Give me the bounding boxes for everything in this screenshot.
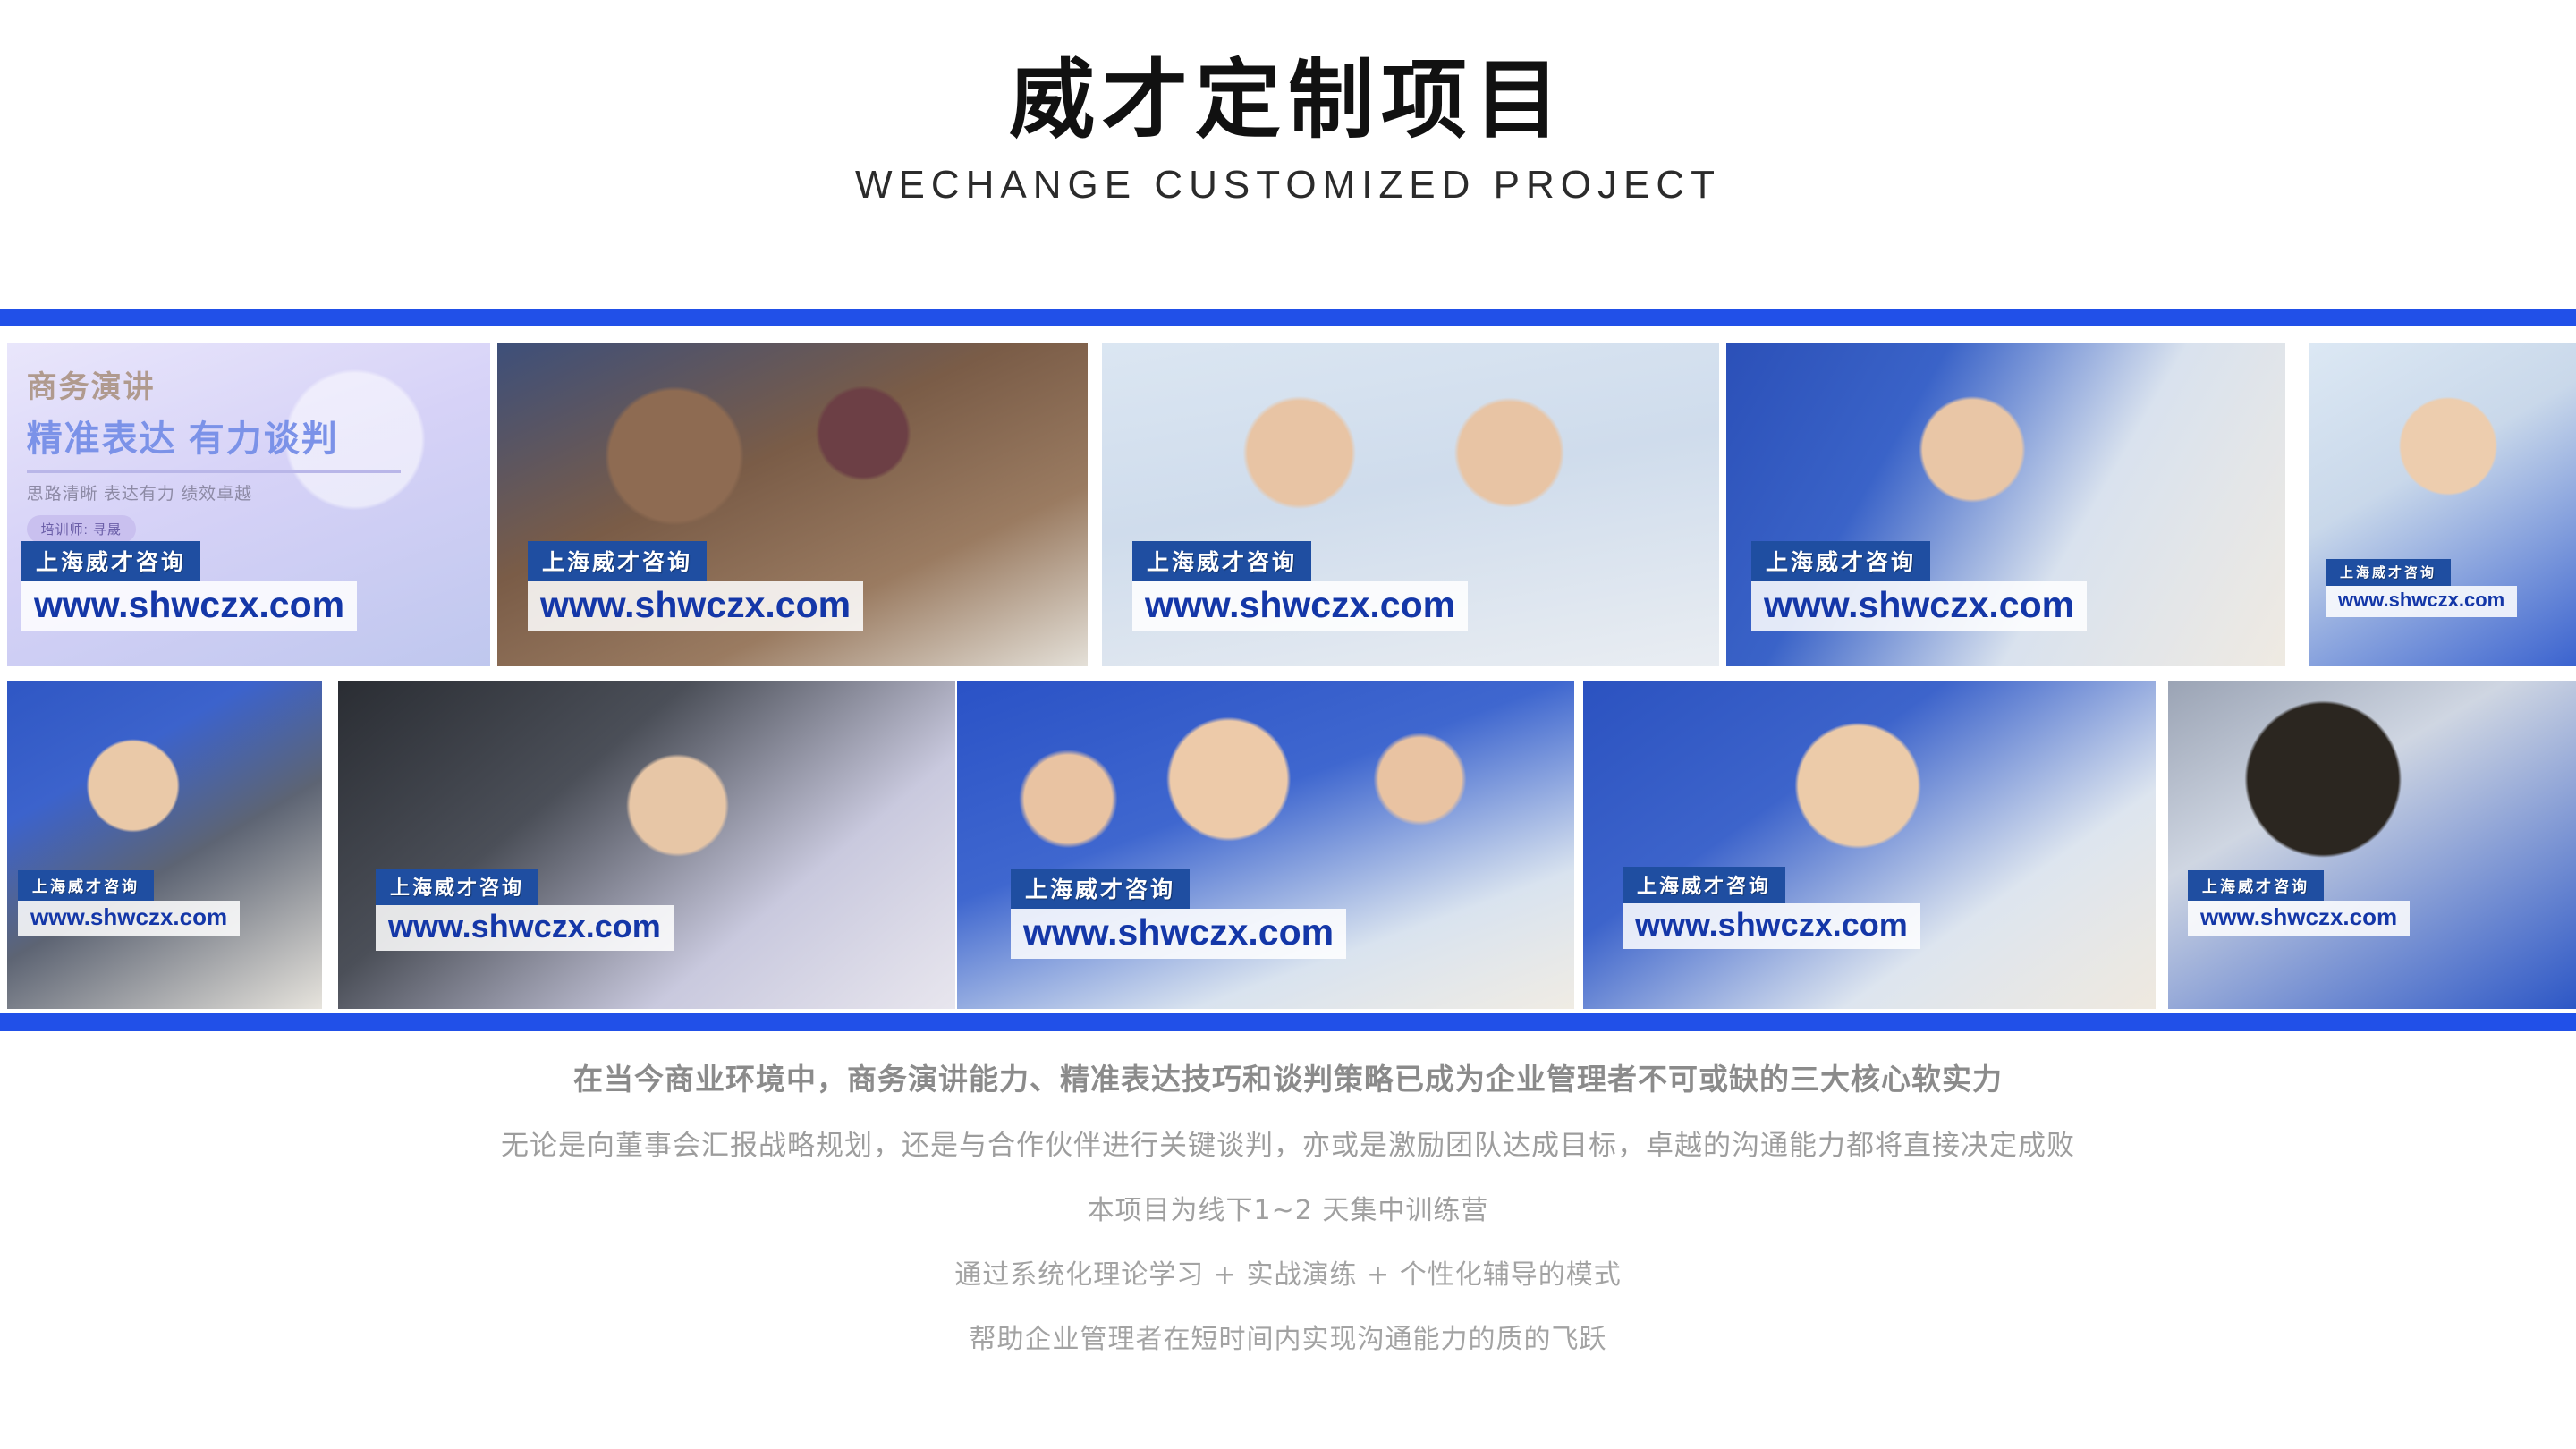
page-title: 威才定制项目 [1009,55,1567,146]
description-line-1: 在当今商业环境中，商务演讲能力、精准表达技巧和谈判策略已成为企业管理者不可或缺的… [573,1055,2003,1098]
watermark-url: www.shwczx.com [18,901,240,936]
slide-line-2: 精准表达 有力谈判 [27,410,462,462]
gallery-tile-r1c3[interactable]: 上海威才咨询 www.shwczx.com [1102,343,1719,666]
watermark-brand: 上海威才咨询 [2188,870,2324,901]
watermark-r1c3: 上海威才咨询 www.shwczx.com [1132,541,1468,631]
gallery-tile-r2c3[interactable]: 上海威才咨询 www.shwczx.com [957,681,1574,1009]
photo-r1c5 [2309,343,2576,666]
photo-r2c1 [7,681,322,1009]
watermark-r2c1: 上海威才咨询 www.shwczx.com [18,870,240,936]
slide-line-3: 思路清晰 表达有力 绩效卓越 [27,480,462,504]
watermark-url: www.shwczx.com [376,905,674,951]
watermark-r2c5: 上海威才咨询 www.shwczx.com [2188,870,2410,936]
watermark-r1c4: 上海威才咨询 www.shwczx.com [1751,541,2087,631]
watermark-r1c2: 上海威才咨询 www.shwczx.com [528,541,863,631]
gallery-tile-r1c5[interactable]: 上海威才咨询 www.shwczx.com [2309,343,2576,666]
gallery-tile-r2c1[interactable]: 上海威才咨询 www.shwczx.com [7,681,322,1009]
divider-bottom [0,1013,2576,1031]
watermark-url: www.shwczx.com [2188,901,2410,936]
poster-header: 威才定制项目 WECHANGE CUSTOMIZED PROJECT [0,0,2576,295]
photo-r2c3 [957,681,1574,1009]
photo-gallery: 商务演讲 精准表达 有力谈判 思路清晰 表达有力 绩效卓越 培训师: 寻晟 上海… [0,343,2576,1009]
watermark-brand: 上海威才咨询 [1623,867,1785,903]
photo-r2c4 [1583,681,2156,1009]
description-line-3: 本项目为线下1~2 天集中训练营 [1088,1188,1489,1227]
watermark-url: www.shwczx.com [528,581,863,631]
watermark-brand: 上海威才咨询 [376,869,538,905]
watermark-brand: 上海威才咨询 [1751,541,1930,581]
slide-trainer-chip: 培训师: 寻晟 [27,515,136,543]
poster-canvas: 威才定制项目 WECHANGE CUSTOMIZED PROJECT 商务演讲 … [0,0,2576,1449]
description-line-4: 通过系统化理论学习 + 实战演练 + 个性化辅导的模式 [954,1252,1621,1292]
gallery-tile-r2c5[interactable]: 上海威才咨询 www.shwczx.com [2168,681,2576,1009]
watermark-brand: 上海威才咨询 [1132,541,1311,581]
photo-r2c2 [338,681,955,1009]
watermark-url: www.shwczx.com [2326,586,2517,617]
description-block: 在当今商业环境中，商务演讲能力、精准表达技巧和谈判策略已成为企业管理者不可或缺的… [0,1055,2576,1356]
divider-top [0,309,2576,326]
watermark-brand: 上海威才咨询 [18,870,154,901]
page-subtitle: WECHANGE CUSTOMIZED PROJECT [855,164,1721,207]
gallery-tile-r1c4[interactable]: 上海威才咨询 www.shwczx.com [1726,343,2285,666]
description-line-2: 无论是向董事会汇报战略规划，还是与合作伙伴进行关键谈判，亦或是激励团队达成目标，… [501,1123,2075,1163]
slide-divider [27,470,401,473]
watermark-brand: 上海威才咨询 [528,541,707,581]
watermark-brand: 上海威才咨询 [1011,869,1190,909]
photo-r2c5 [2168,681,2576,1009]
watermark-r2c2: 上海威才咨询 www.shwczx.com [376,869,674,951]
watermark-url: www.shwczx.com [1623,903,1920,949]
watermark-r1c1: 上海威才咨询 www.shwczx.com [21,541,357,631]
watermark-url: www.shwczx.com [1011,909,1346,959]
gallery-tile-r1c1[interactable]: 商务演讲 精准表达 有力谈判 思路清晰 表达有力 绩效卓越 培训师: 寻晟 上海… [7,343,490,666]
watermark-url: www.shwczx.com [1132,581,1468,631]
watermark-r2c4: 上海威才咨询 www.shwczx.com [1623,867,1920,949]
watermark-r2c3: 上海威才咨询 www.shwczx.com [1011,869,1346,959]
watermark-url: www.shwczx.com [1751,581,2087,631]
gallery-tile-r2c4[interactable]: 上海威才咨询 www.shwczx.com [1583,681,2156,1009]
slide-line-1: 商务演讲 [27,362,462,406]
watermark-url: www.shwczx.com [21,581,357,631]
watermark-r1c5: 上海威才咨询 www.shwczx.com [2326,559,2517,617]
description-line-5: 帮助企业管理者在短时间内实现沟通能力的质的飞跃 [970,1317,1607,1356]
gallery-tile-r1c2[interactable]: 上海威才咨询 www.shwczx.com [497,343,1088,666]
gallery-tile-r2c2[interactable]: 上海威才咨询 www.shwczx.com [338,681,955,1009]
watermark-brand: 上海威才咨询 [21,541,200,581]
watermark-brand: 上海威才咨询 [2326,559,2451,586]
